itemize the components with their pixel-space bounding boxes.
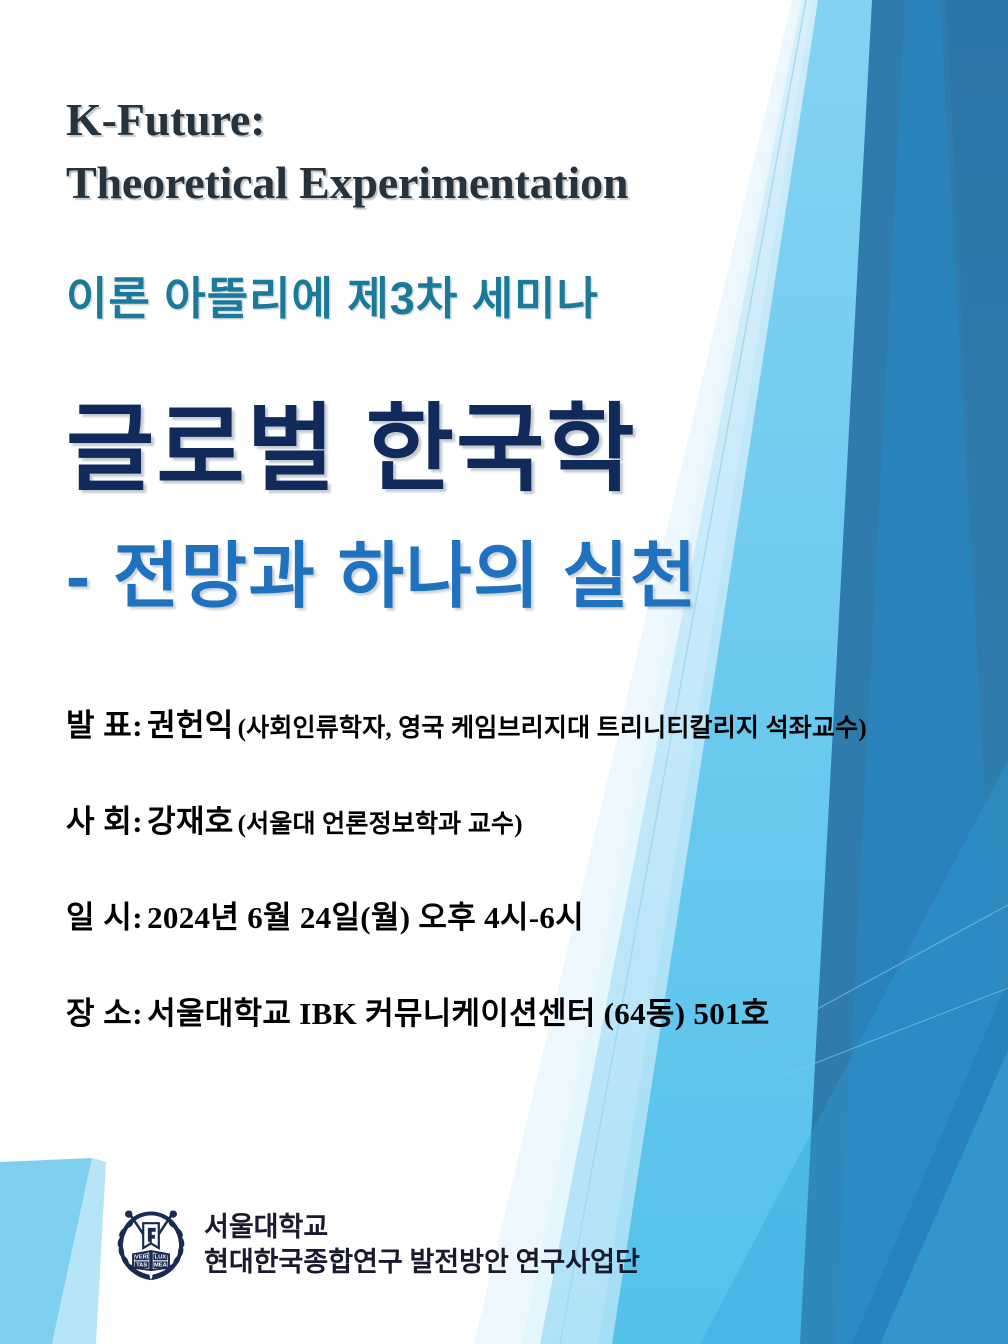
poster-root: K-Future: Theoretical Experimentation 이론…: [0, 0, 1008, 1344]
main-title-subtitle: - 전망과 하나의 실천: [66, 538, 698, 617]
footer-org-line2: 현대한국종합연구 발전방안 연구사업단: [204, 1245, 640, 1280]
crest-motto-tas: TAS: [136, 1263, 147, 1269]
detail-affiliation: (서울대 언론정보학과 교수): [238, 811, 523, 838]
detail-value: 강재호: [147, 804, 233, 839]
detail-label: 장 소:: [66, 996, 143, 1031]
crest-motto-lux: LUX: [155, 1255, 167, 1261]
english-title: K-Future: Theoretical Experimentation: [66, 88, 826, 215]
crest-motto-veri: VERI: [135, 1255, 149, 1261]
detail-affiliation: (사회인류학자, 영국 케임브리지대 트리니티칼리지 석좌교수): [238, 715, 867, 742]
crest-motto-mea: MEA: [154, 1263, 168, 1269]
detail-label: 일 시:: [66, 900, 143, 935]
footer-org-line1: 서울대학교: [204, 1210, 640, 1245]
detail-row-datetime: 일 시: 2024년 6월 24일(월) 오후 4시-6시: [66, 892, 976, 937]
detail-value: 권헌익: [147, 708, 233, 743]
main-title: 글로벌 한국학: [66, 398, 637, 502]
korean-series-subtitle: 이론 아뜰리에 제3차 세미나: [66, 262, 599, 327]
detail-value: 2024년 6월 24일(월) 오후 4시-6시: [147, 900, 584, 935]
english-title-line2: Theoretical Experimentation: [66, 151, 826, 214]
detail-list: 발 표: 권헌익 (사회인류학자, 영국 케임브리지대 트리니티칼리지 석좌교수…: [66, 700, 976, 1033]
footer: VERI LUX TAS MEA 서울대학교 현대한국종합연구 발전방안 연구사…: [112, 1206, 640, 1284]
detail-row-venue: 장 소: 서울대학교 IBK 커뮤니케이션센터 (64동) 501호: [66, 988, 976, 1033]
english-title-line1: K-Future:: [66, 94, 265, 145]
detail-label: 발 표:: [66, 708, 143, 743]
detail-label: 사 회:: [66, 804, 143, 839]
detail-row-presenter: 발 표: 권헌익 (사회인류학자, 영국 케임브리지대 트리니티칼리지 석좌교수…: [66, 700, 976, 745]
detail-row-moderator: 사 회: 강재호 (서울대 언론정보학과 교수): [66, 796, 976, 841]
footer-organization: 서울대학교 현대한국종합연구 발전방안 연구사업단: [204, 1210, 640, 1279]
snu-crest-icon: VERI LUX TAS MEA: [112, 1206, 190, 1284]
detail-value: 서울대학교 IBK 커뮤니케이션센터 (64동) 501호: [147, 996, 770, 1031]
